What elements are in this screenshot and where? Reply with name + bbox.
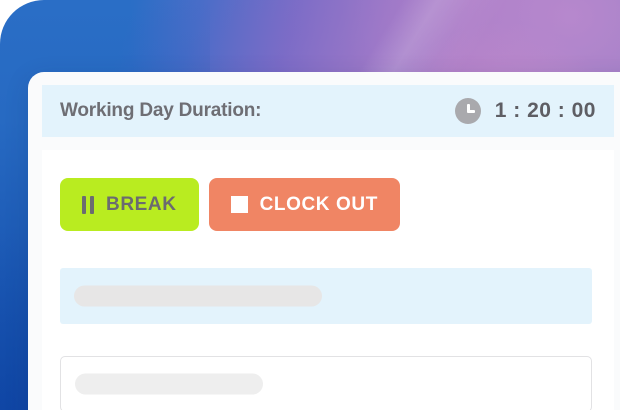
highlighted-input-field[interactable] [60, 268, 592, 324]
clock-icon [455, 98, 481, 124]
duration-display: 1 : 20 : 00 [455, 98, 596, 124]
pause-icon [82, 196, 94, 214]
card-header: Working Day Duration: 1 : 20 : 00 [42, 85, 614, 137]
placeholder-bar [75, 374, 263, 395]
break-button-label: BREAK [106, 194, 177, 216]
placeholder-bar [74, 286, 322, 307]
screenshot-stage: Working Day Duration: 1 : 20 : 00 BREAK [0, 0, 620, 410]
page-title: Working Day Duration: [60, 100, 261, 122]
clock-out-button[interactable]: CLOCK OUT [209, 178, 400, 231]
time-tracker-card: Working Day Duration: 1 : 20 : 00 BREAK [28, 72, 620, 410]
clock-out-button-label: CLOCK OUT [260, 194, 378, 216]
break-button[interactable]: BREAK [60, 178, 199, 231]
duration-value: 1 : 20 : 00 [495, 99, 596, 123]
stop-icon [231, 196, 248, 213]
clock-minute-hand [467, 110, 475, 113]
card-body: BREAK CLOCK OUT [42, 150, 614, 410]
secondary-input-field[interactable] [60, 356, 592, 410]
action-button-row: BREAK CLOCK OUT [60, 178, 400, 231]
